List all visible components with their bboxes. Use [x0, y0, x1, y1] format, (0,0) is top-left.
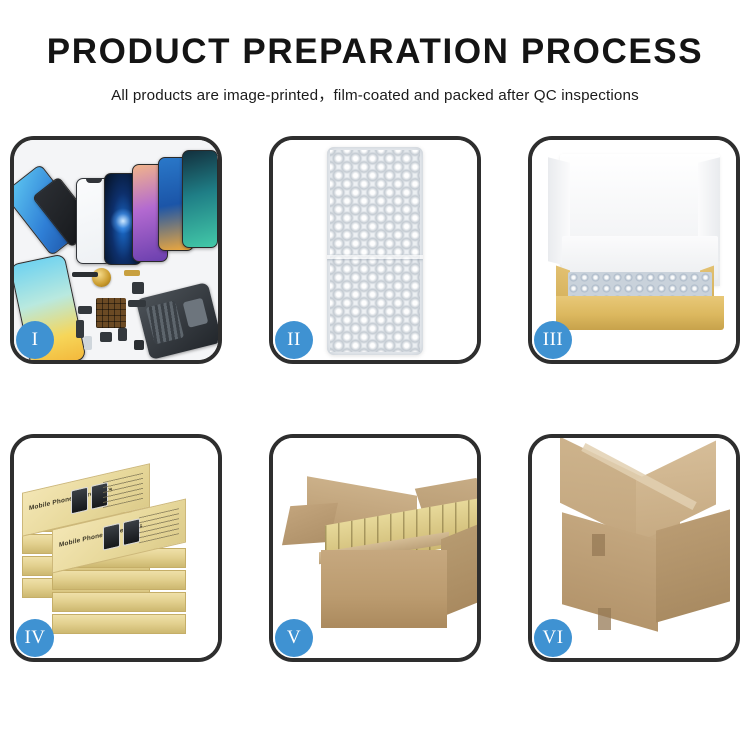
process-step-6: VI: [528, 434, 740, 662]
box-artwork-screen-3: [103, 523, 120, 551]
carton-front-panel: [321, 550, 447, 628]
flex-cable-e: [118, 328, 127, 341]
stacked-box-edge-6: [52, 570, 186, 590]
process-step-1: I: [10, 136, 222, 364]
process-step-5: V: [269, 434, 481, 662]
bubble-wrap-sleeve: [327, 147, 423, 355]
flex-cable-a: [132, 282, 144, 294]
stacked-box-edge-7: [52, 592, 186, 612]
page-title: PRODUCT PREPARATION PROCESS: [0, 34, 750, 71]
step-5-badge: V: [275, 619, 313, 657]
process-step-4: Mobile Phone Spare Parts Mobile Phone Sp…: [10, 434, 222, 662]
page-subtitle: All products are image-printed，film-coat…: [0, 83, 750, 105]
flex-cable-c: [76, 320, 84, 338]
page-header: PRODUCT PREPARATION PROCESS All products…: [0, 0, 750, 105]
flex-cable-f: [128, 300, 146, 307]
battery-connector: [84, 336, 92, 350]
phone-teal-gradient: [182, 150, 218, 248]
kraft-box-front: [556, 296, 724, 330]
carton-seal-mark-bottom: [598, 608, 611, 630]
step-3-badge: III: [534, 321, 572, 359]
step-6-badge: VI: [534, 619, 572, 657]
small-part-strip: [72, 272, 98, 277]
stacked-box-edge-8: [52, 614, 186, 634]
gold-flex-connector: [124, 270, 140, 276]
bubble-pattern: [330, 150, 420, 352]
speaker-coil-part: [92, 268, 111, 287]
box-spec-lines-front: [139, 508, 179, 543]
screw-grid-tray: [96, 298, 126, 328]
box-artwork-screen-4: [123, 518, 140, 546]
process-step-grid: I II III: [10, 136, 740, 662]
flex-cable-d: [100, 332, 112, 342]
step-2-badge: II: [275, 321, 313, 359]
flex-cable-b: [78, 306, 92, 314]
process-step-3: III: [528, 136, 740, 364]
notch: [86, 179, 102, 183]
bubble-wrap-seam: [327, 255, 423, 259]
box-artwork-screen-1: [71, 487, 88, 515]
camera-module: [134, 340, 144, 350]
carton-seal-mark-top: [592, 534, 605, 556]
process-step-2: II: [269, 136, 481, 364]
step-4-badge: IV: [16, 619, 54, 657]
box-spec-lines-back: [103, 473, 143, 508]
step-1-badge: I: [16, 321, 54, 359]
